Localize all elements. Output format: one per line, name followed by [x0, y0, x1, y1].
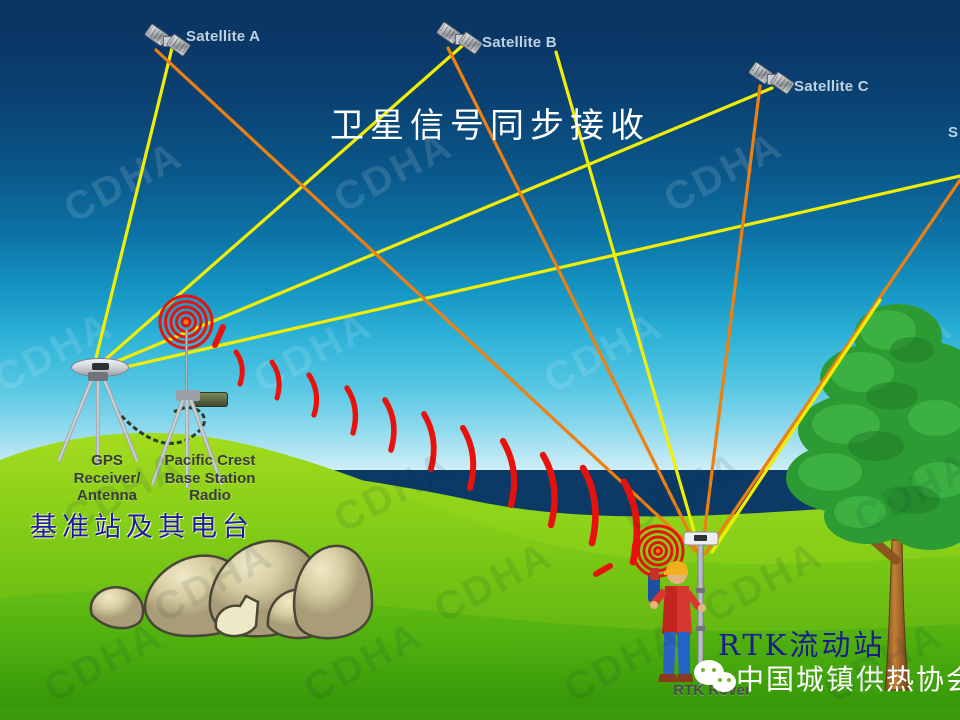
- wechat-icon: [694, 660, 740, 696]
- satellite-icon-c: [750, 62, 796, 96]
- radio-label-line1: Pacific Crest: [140, 452, 280, 470]
- radio-label-line2: Base Station: [140, 470, 280, 488]
- satellite-icon-b: [438, 22, 484, 56]
- satellite-label-b: Satellite B: [482, 34, 557, 51]
- base-station-radio-label: Pacific Crest Base Station Radio: [140, 452, 280, 505]
- rtk-gps-diagram: CDHACDHACDHACDHACDHACDHACDHA: [0, 0, 960, 720]
- association-name: 中国城镇供热协会: [736, 658, 960, 698]
- page-title: 卫星信号同步接收: [330, 98, 650, 147]
- radio-wave-arcs: [236, 352, 637, 562]
- base-station-caption: 基准站及其电台: [30, 505, 254, 544]
- satellite-label-d: S: [948, 124, 958, 141]
- satellite-label-a: Satellite A: [186, 28, 260, 45]
- radio-label-line3: Radio: [140, 487, 280, 505]
- satellite-label-c: Satellite C: [794, 78, 869, 95]
- base-station-radio-tripod: [158, 330, 238, 460]
